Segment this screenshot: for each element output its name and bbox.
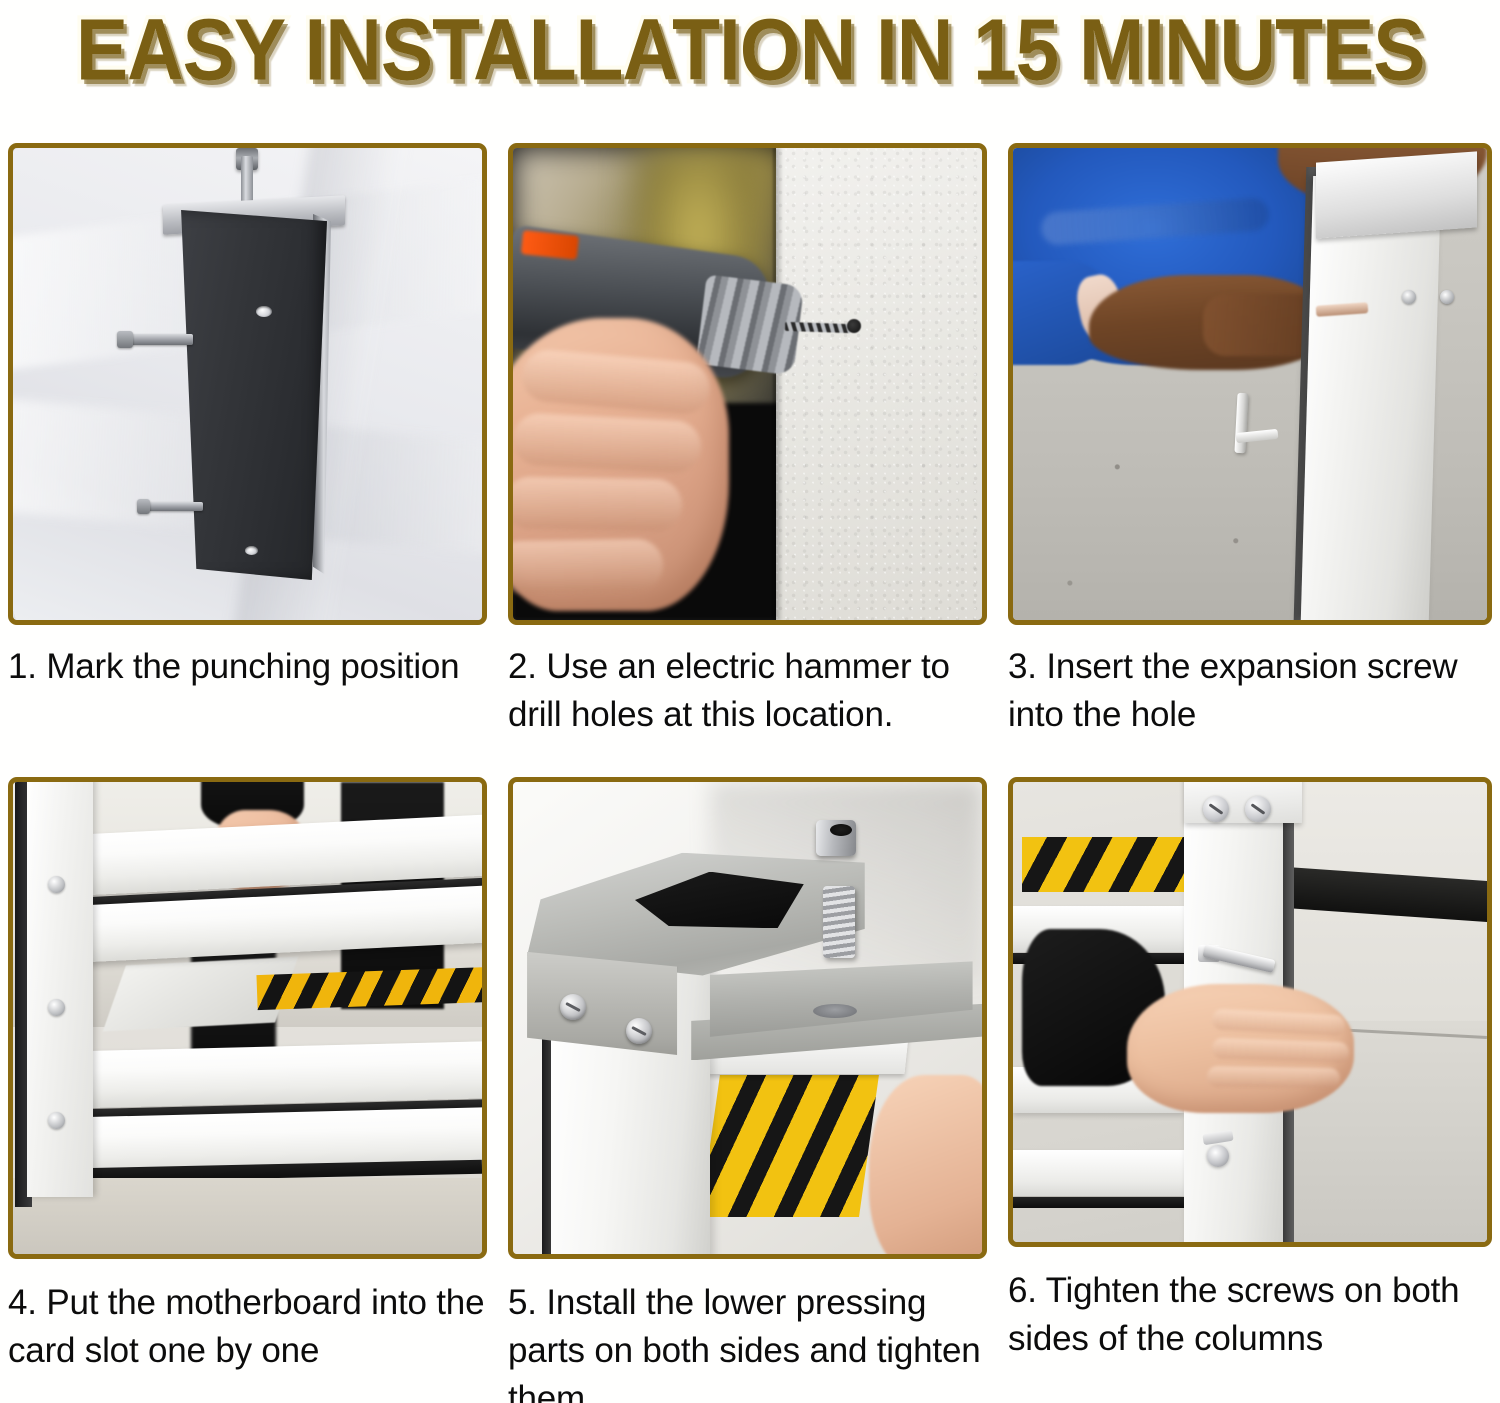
expansion-screw — [1440, 290, 1454, 304]
step-1-photo-frame — [8, 143, 487, 625]
wall-edge-shadow — [773, 148, 783, 620]
steps-grid: 1. Mark the punching position — [8, 143, 1492, 1391]
step-4-cell: 4. Put the motherboard into the card slo… — [8, 777, 487, 1390]
barrier-board — [87, 1041, 482, 1108]
step-5-photo-frame — [508, 777, 987, 1259]
screw-washer — [813, 1004, 857, 1018]
finger — [513, 412, 702, 474]
column-screw — [1245, 796, 1271, 822]
step-5-scene — [513, 782, 982, 1254]
bracket-screw — [626, 1018, 652, 1044]
step-6-photo-frame — [1008, 777, 1492, 1247]
step-6-scene — [1013, 782, 1487, 1242]
expansion-bolt — [141, 502, 203, 511]
step-2-caption: 2. Use an electric hammer to drill holes… — [508, 643, 987, 739]
textured-wall — [776, 148, 982, 620]
hazard-stripe — [256, 967, 482, 1011]
page-title: EASY INSTALLATION IN 15 MINUTES — [76, 4, 1425, 96]
steps-row-bottom: 4. Put the motherboard into the card slo… — [8, 777, 1492, 1390]
hazard-stripe — [1022, 837, 1183, 892]
finger — [1207, 1066, 1340, 1089]
step-4-photo-frame — [8, 777, 487, 1259]
marking-hole — [245, 546, 258, 555]
column-top-bracket — [1316, 152, 1477, 239]
step-2-scene — [513, 148, 982, 620]
white-column — [1301, 176, 1441, 620]
expansion-screw — [1402, 290, 1416, 304]
barrier-board — [1013, 1150, 1184, 1196]
installation-instructions-page: EASY INSTALLATION IN 15 MINUTES — [0, 0, 1500, 1403]
white-column — [27, 782, 93, 1197]
step-1-scene — [13, 148, 482, 620]
step-1-caption: 1. Mark the punching position — [8, 643, 487, 691]
expansion-bolt-head — [137, 499, 150, 514]
drill-bit — [785, 321, 851, 332]
step-6-caption: 6. Tighten the screws on both sides of t… — [1008, 1267, 1492, 1363]
step-6-cell: 6. Tighten the screws on both sides of t… — [1008, 777, 1492, 1390]
step-3-cell: 3. Insert the expansion screw into the h… — [1008, 143, 1492, 756]
board-gap — [1013, 1197, 1184, 1208]
finger — [1212, 1037, 1350, 1062]
step-5-caption: 5. Install the lower pressing parts on b… — [508, 1279, 987, 1403]
expansion-bolt-head — [117, 331, 133, 348]
finger — [513, 477, 682, 532]
column-screw — [1203, 796, 1229, 822]
marking-hole — [256, 306, 272, 317]
expansion-bolt — [123, 334, 193, 345]
step-3-scene — [1013, 148, 1487, 620]
step-4-caption: 4. Put the motherboard into the card slo… — [8, 1279, 487, 1375]
column-top-cap — [1184, 782, 1303, 823]
thumbscrew-thread — [823, 886, 855, 958]
step-2-photo-frame — [508, 143, 987, 625]
step-4-scene — [13, 782, 482, 1254]
hand — [869, 1075, 982, 1254]
step-3-caption: 3. Insert the expansion screw into the h… — [1008, 643, 1492, 739]
step-5-cell: 5. Install the lower pressing parts on b… — [508, 777, 987, 1390]
finger — [513, 538, 664, 593]
banner-header: EASY INSTALLATION IN 15 MINUTES — [0, 0, 1500, 100]
column-front-face — [175, 210, 327, 580]
steps-row-top: 1. Mark the punching position — [8, 143, 1492, 756]
drill-hole — [847, 319, 861, 333]
step-2-cell: 2. Use an electric hammer to drill holes… — [508, 143, 987, 756]
step-1-cell: 1. Mark the punching position — [8, 143, 487, 756]
step-3-photo-frame — [1008, 143, 1492, 625]
hazard-stripe — [700, 1075, 879, 1217]
